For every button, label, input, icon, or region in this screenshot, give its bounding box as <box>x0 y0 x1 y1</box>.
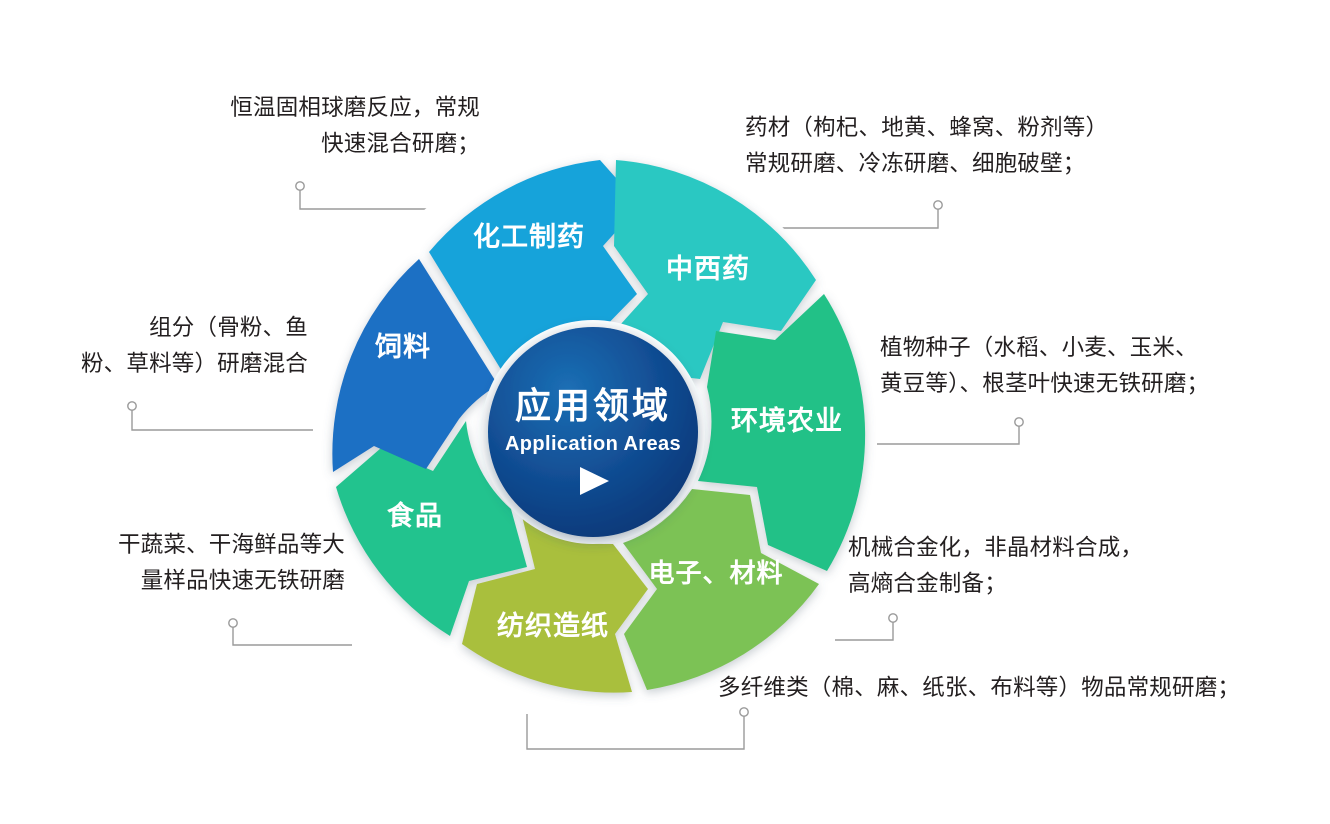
callout-electronics-materials: 机械合金化，非晶材料合成， 高熵合金制备； <box>848 530 1208 603</box>
hub-circle <box>488 327 698 537</box>
segment-label-chinese-western-medicine: 中西药 <box>666 254 750 284</box>
segment-label-environment-agriculture: 环境农业 <box>731 406 843 436</box>
segment-label-chemical-pharma: 化工制药 <box>473 222 585 252</box>
application-areas-infographic: 应用领域 Application Areas 化工制药 中西药 环境农业 电子、… <box>0 0 1330 824</box>
callout-food: 干蔬菜、干海鲜品等大 量样品快速无铁研磨 <box>55 527 345 600</box>
segment-label-textile-papermaking: 纺织造纸 <box>497 610 609 641</box>
segment-label-feed: 饲料 <box>374 332 431 362</box>
callout-textile-papermaking: 多纤维类（棉、麻、纸张、布料等）物品常规研磨； <box>718 670 1318 706</box>
hub-title-cn: 应用领域 <box>515 385 671 426</box>
callout-chemical-pharma: 恒温固相球磨反应，常规 快速混合研磨； <box>150 90 480 163</box>
segment-label-food: 食品 <box>387 500 443 531</box>
callout-chinese-western-medicine: 药材（枸杞、地黄、蜂窝、粉剂等） 常规研磨、冷冻研磨、细胞破壁； <box>745 110 1195 183</box>
hub[interactable]: 应用领域 Application Areas <box>481 320 705 544</box>
hub-title-en: Application Areas <box>505 433 681 455</box>
callout-environment-agriculture: 植物种子（水稻、小麦、玉米、 黄豆等）、根茎叶快速无铁研磨； <box>880 330 1280 403</box>
segment-label-electronics-materials: 电子、材料 <box>648 558 783 588</box>
callout-feed: 组分（骨粉、鱼 粉、草料等）研磨混合 <box>30 310 308 383</box>
